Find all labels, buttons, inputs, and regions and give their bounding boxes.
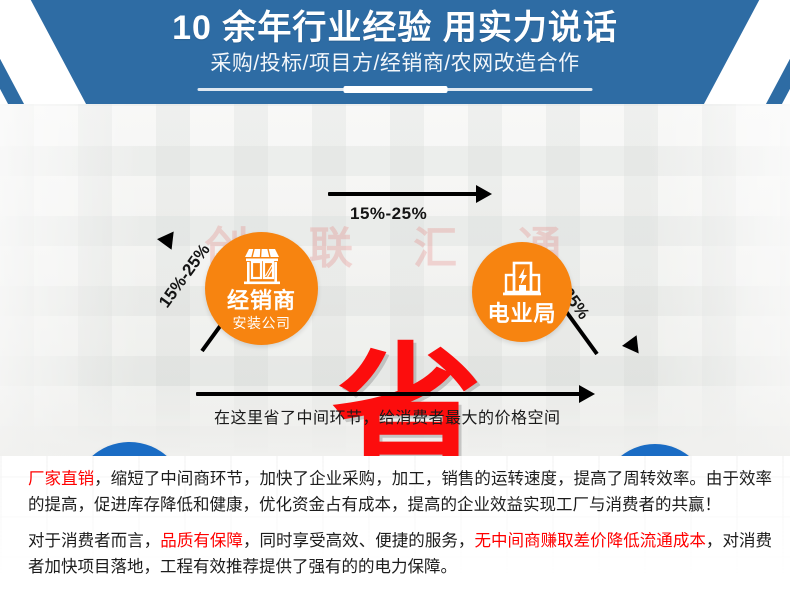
- paragraph-two: 对于消费者而言，品质有保障，同时享受高效、便捷的服务，无中间商赚取差价降低流通成…: [28, 528, 772, 580]
- paragraph-two-lead: 对于消费者而言，: [28, 532, 160, 550]
- edge-line: [196, 392, 581, 396]
- node-sublabel: 安装公司: [233, 314, 291, 332]
- node-power-bureau[interactable]: 电业局: [472, 242, 572, 342]
- page-header: 10 余年行业经验 用实力说话 采购/投标/项目方/经销商/农网改造合作: [0, 0, 790, 104]
- edge-line: [328, 192, 478, 196]
- node-label: 电业局: [487, 301, 556, 326]
- paragraph-one: 厂家直销，缩短了中间商环节，加快了企业采购，加工，销售的运转速度，提高了周转效率…: [28, 466, 772, 518]
- promo-banner-page: 10 余年行业经验 用实力说话 采购/投标/项目方/经销商/农网改造合作 创 联…: [0, 0, 790, 601]
- edge-label: 15%-25%: [350, 204, 427, 224]
- header-divider: [198, 88, 593, 91]
- description-section: 厂家直销，缩短了中间商环节，加快了企业采购，加工，销售的运转速度，提高了周转效率…: [0, 456, 790, 601]
- page-subtitle: 采购/投标/项目方/经销商/农网改造合作: [210, 50, 579, 77]
- storefront-icon: [240, 246, 284, 286]
- node-label: 经销商: [227, 288, 296, 313]
- node-dealer[interactable]: 经销商 安装公司: [205, 232, 318, 345]
- edge-label: 在这里省了中间环节，给消费者最大的价格空间: [214, 404, 561, 428]
- paragraph-one-rest: ，缩短了中间商环节，加快了企业采购，加工，销售的运转速度，提高了周转效率。由于效…: [28, 470, 772, 514]
- paragraph-two-mid: ，同时享受高效、便捷的服务，: [243, 532, 474, 550]
- page-title: 10 余年行业经验 用实力说话: [172, 8, 618, 48]
- supply-chain-diagram: 创 联 汇 通 省 15%-25% 在这里省了中间环节，给消费者最大的价格空间 …: [0, 104, 790, 456]
- highlight-no-middleman: 无中间商赚取差价降低流通成本: [474, 532, 705, 550]
- power-building-icon: [501, 259, 543, 299]
- highlight-factory-direct: 厂家直销: [28, 470, 94, 488]
- arrow-head-icon: [476, 185, 492, 203]
- highlight-quality: 品质有保障: [160, 532, 243, 550]
- center-save-character: 省: [332, 342, 468, 456]
- arrow-head-icon: [579, 385, 595, 403]
